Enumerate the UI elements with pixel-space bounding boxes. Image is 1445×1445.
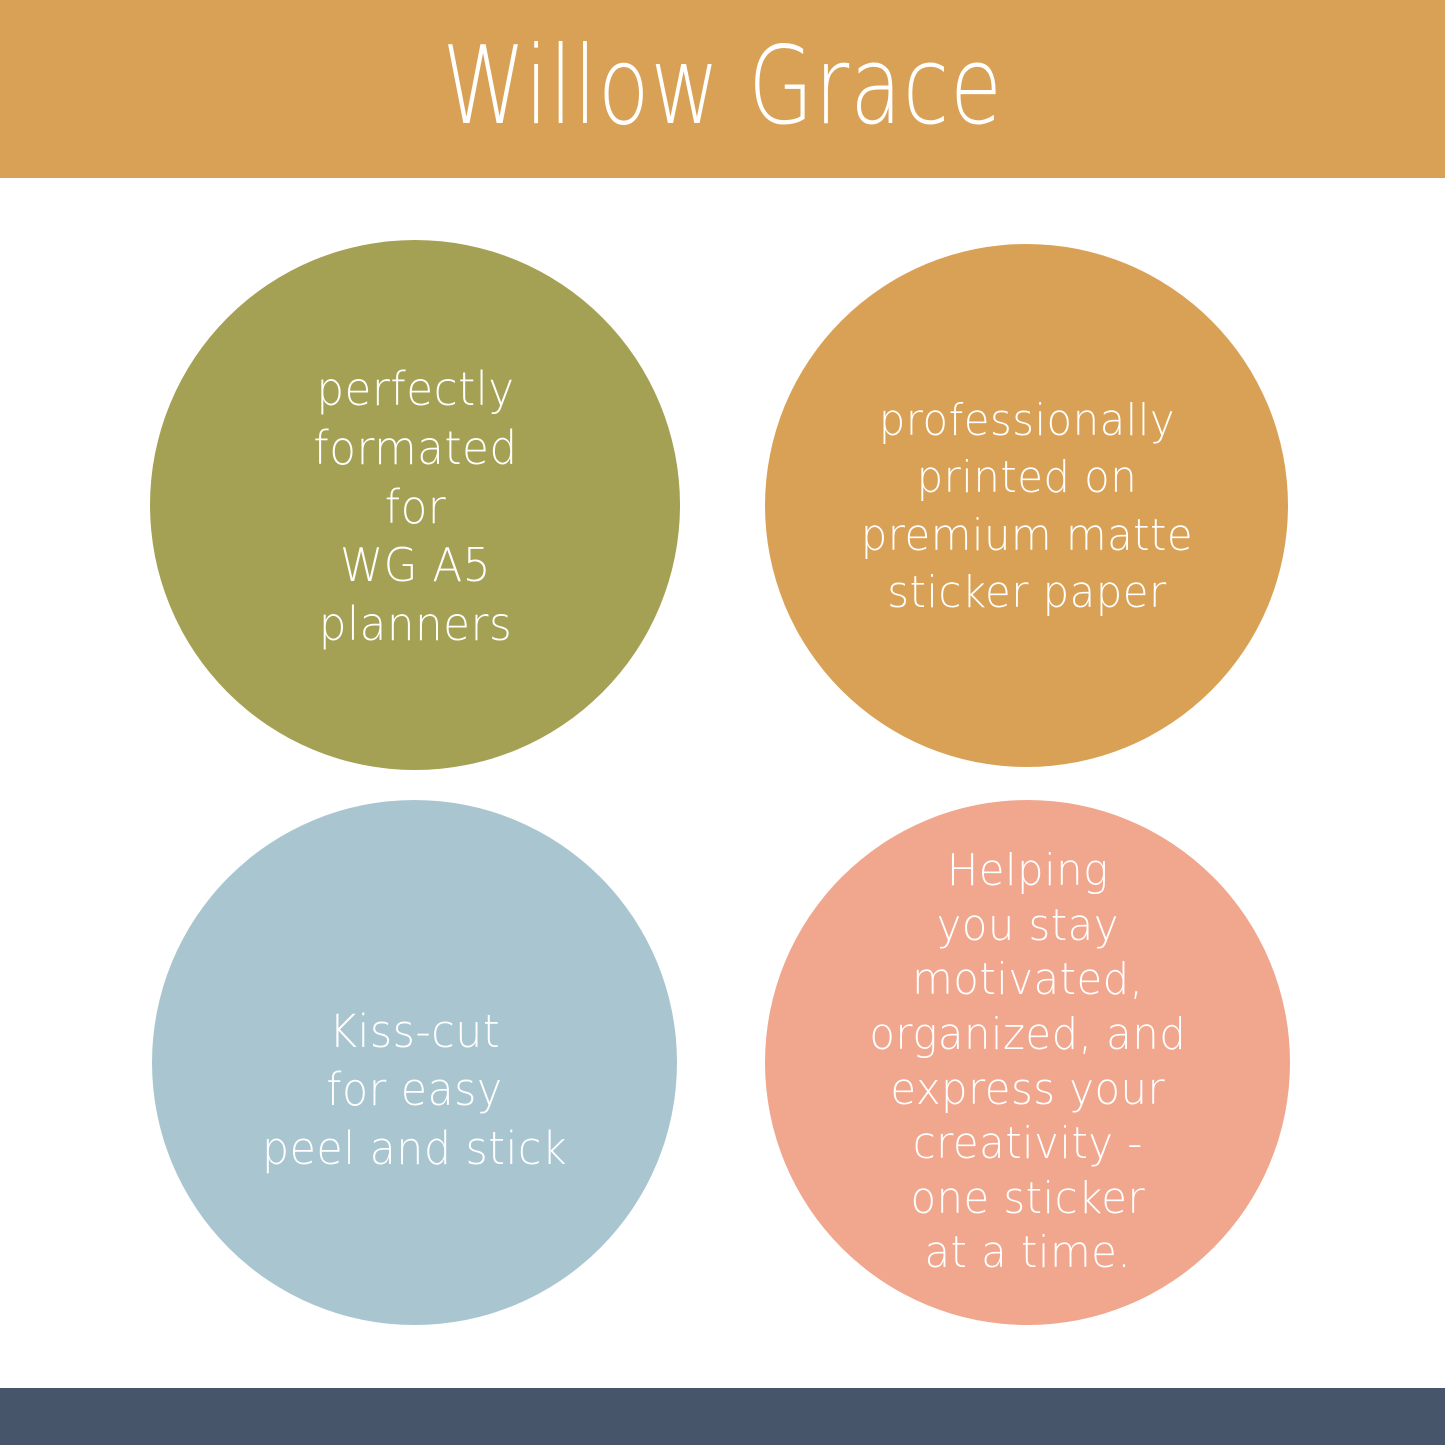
header-banner: Willow Grace bbox=[0, 0, 1445, 178]
feature-circle-formatting-text: perfectly formated for WG A5 planners bbox=[313, 360, 517, 654]
feature-circle-mission-text: Helping you stay motivated, organized, a… bbox=[869, 844, 1186, 1280]
feature-circle-formatting: perfectly formated for WG A5 planners bbox=[150, 240, 680, 770]
product-info-graphic: Willow Grace perfectly formated for WG A… bbox=[0, 0, 1445, 1445]
brand-title: Willow Grace bbox=[442, 32, 1003, 140]
footer-bar bbox=[0, 1388, 1445, 1445]
feature-circle-kisscut-text: Kiss-cut for easy peel and stick bbox=[262, 1003, 567, 1179]
feature-circle-kisscut: Kiss-cut for easy peel and stick bbox=[152, 800, 677, 1325]
feature-circle-grid: perfectly formated for WG A5 planners pr… bbox=[0, 178, 1445, 1388]
feature-circle-printing-text: professionally printed on premium matte … bbox=[860, 392, 1192, 621]
feature-circle-printing: professionally printed on premium matte … bbox=[765, 244, 1288, 767]
feature-circle-mission: Helping you stay motivated, organized, a… bbox=[765, 800, 1290, 1325]
